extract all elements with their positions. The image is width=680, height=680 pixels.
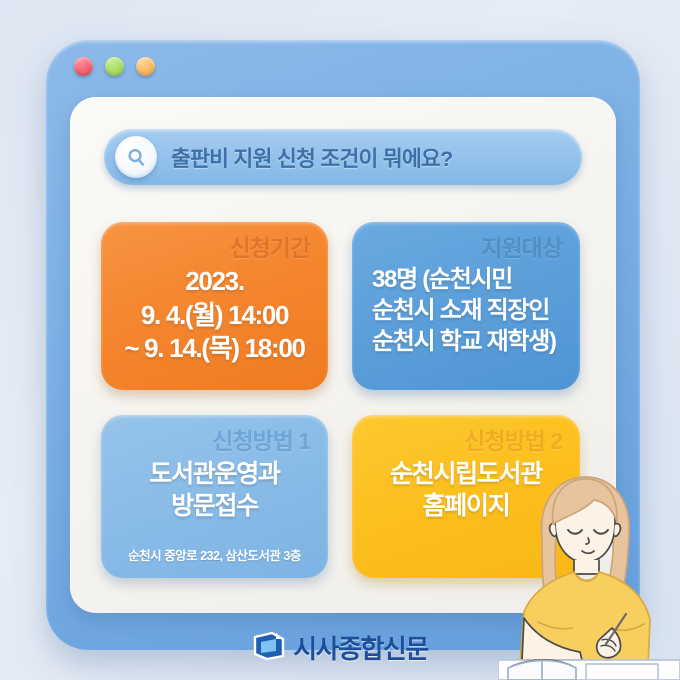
target-line-3: 순천시 학교 재학생) — [372, 327, 562, 358]
search-bar[interactable]: 출판비 지원 신청 조건이 뭐에요? — [104, 129, 582, 185]
search-icon[interactable] — [115, 136, 157, 178]
card-title-method2: 신청방법 2 — [370, 428, 562, 454]
footer-logo: 시사종합신문 — [0, 629, 680, 666]
card-application-method-1: 신청방법 1 도서관운영과 방문접수 순천시 중앙로 232, 삼산도서관 3층 — [101, 415, 328, 578]
card-body-target: 38명 (순천시민 순천시 소재 직장인 순천시 학교 재학생) — [370, 265, 562, 357]
target-line-1: 38명 (순천시민 — [372, 265, 562, 296]
window-maximize-dot[interactable] — [136, 57, 155, 76]
window-minimize-dot[interactable] — [105, 57, 124, 76]
target-line-2: 순천시 소재 직장인 — [372, 296, 562, 327]
card-title-method1: 신청방법 1 — [119, 428, 310, 454]
period-line-start: 9. 4.(월) 14:00 — [119, 299, 310, 332]
method1-line-2: 방문접수 — [119, 490, 310, 522]
card-application-period: 신청기간 2023. 9. 4.(월) 14:00 ~ 9. 14.(목) 18… — [101, 222, 328, 390]
search-query-text: 출판비 지원 신청 조건이 뭐에요? — [171, 142, 453, 173]
period-line-end: ~ 9. 14.(목) 18:00 — [119, 332, 310, 365]
period-line-year: 2023. — [119, 265, 310, 298]
card-body-period: 2023. 9. 4.(월) 14:00 ~ 9. 14.(목) 18:00 — [119, 265, 310, 365]
card-title-target: 지원대상 — [370, 235, 562, 261]
logo-text: 시사종합신문 — [293, 629, 428, 666]
method1-line-1: 도서관운영과 — [119, 458, 310, 490]
card-body-method1: 도서관운영과 방문접수 — [119, 458, 310, 522]
card-title-period: 신청기간 — [119, 235, 310, 261]
open-book-icon — [252, 630, 286, 666]
card-note-address: 순천시 중앙로 232, 삼산도서관 3층 — [119, 545, 310, 564]
window-titlebar — [46, 40, 640, 92]
card-support-target: 지원대상 38명 (순천시민 순천시 소재 직장인 순천시 학교 재학생) — [352, 222, 580, 390]
window-close-dot[interactable] — [74, 57, 93, 76]
